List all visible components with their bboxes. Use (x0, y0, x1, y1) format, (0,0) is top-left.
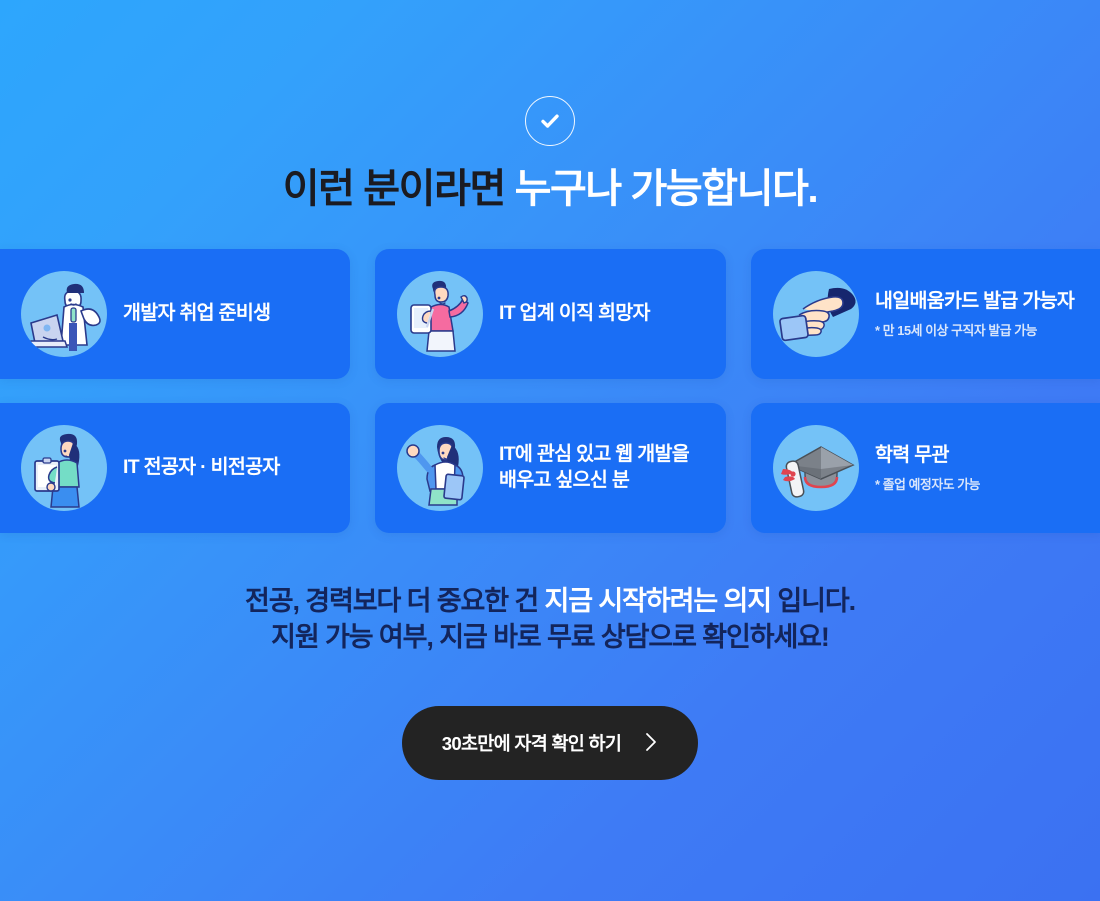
card-title: IT 업계 이직 희망자 (499, 301, 650, 327)
card-title: IT에 관심 있고 웹 개발을 배우고 싶으신 분 (499, 442, 689, 493)
card-text: IT 전공자 · 비전공자 (123, 455, 280, 481)
headline-dark-part: 이런 분이라면 (283, 167, 515, 211)
card-text: 내일배움카드 발급 가능자 * 만 15세 이상 구직자 발급 가능 (875, 289, 1074, 340)
card-title: IT 전공자 · 비전공자 (123, 455, 280, 481)
card-subtitle: * 만 15세 이상 구직자 발급 가능 (875, 320, 1074, 339)
graduation-cap-diploma-illustration (773, 425, 859, 511)
closing-copy: 전공, 경력보다 더 중요한 건 지금 시작하려는 의지 입니다. 지원 가능 … (0, 584, 1100, 655)
hand-holding-card-illustration (773, 271, 859, 357)
card-subtitle: * 졸업 예정자도 가능 (875, 474, 980, 493)
card-title: 학력 무관 (875, 443, 980, 469)
eligibility-section: 이런 분이라면 누구나 가능합니다. (0, 0, 1100, 901)
closing-line1-highlight: 지금 시작하려는 의지 (545, 586, 771, 616)
eligibility-card-major-nonmajor[interactable]: IT 전공자 · 비전공자 (0, 403, 350, 533)
closing-line-1: 전공, 경력보다 더 중요한 건 지금 시작하려는 의지 입니다. (0, 584, 1100, 620)
woman-with-clipboard-illustration (21, 425, 107, 511)
eligibility-card-no-education-requirement[interactable]: 학력 무관 * 졸업 예정자도 가능 (751, 403, 1100, 533)
chevron-right-icon (645, 732, 658, 755)
card-title: 개발자 취업 준비생 (123, 301, 270, 327)
card-text: IT 업계 이직 희망자 (499, 301, 650, 327)
check-circle-icon (525, 96, 575, 146)
check-eligibility-button[interactable]: 30초만에 자격 확인 하기 (402, 706, 698, 780)
eligibility-card-grid: 개발자 취업 준비생 (0, 249, 1100, 533)
closing-line1-part2: 입니다. (771, 586, 855, 616)
closing-line1-part1: 전공, 경력보다 더 중요한 건 (245, 586, 545, 616)
card-text: 학력 무관 * 졸업 예정자도 가능 (875, 443, 980, 494)
headline-light-part: 누구나 가능합니다. (515, 167, 818, 211)
eligibility-card-naeil-card[interactable]: 내일배움카드 발급 가능자 * 만 15세 이상 구직자 발급 가능 (751, 249, 1100, 379)
card-title: 내일배움카드 발급 가능자 (875, 289, 1074, 315)
eligibility-card-web-dev-interest[interactable]: IT에 관심 있고 웹 개발을 배우고 싶으신 분 (375, 403, 726, 533)
eligibility-card-developer-jobseeker[interactable]: 개발자 취업 준비생 (0, 249, 350, 379)
closing-line-2: 지원 가능 여부, 지금 바로 무료 상담으로 확인하세요! (0, 620, 1100, 656)
page-title: 이런 분이라면 누구나 가능합니다. (283, 166, 817, 213)
eligibility-card-it-career-changer[interactable]: IT 업계 이직 희망자 (375, 249, 726, 379)
woman-with-tablet-illustration (397, 271, 483, 357)
person-with-laptop-illustration (21, 271, 107, 357)
cta-label: 30초만에 자격 확인 하기 (442, 730, 621, 756)
woman-waving-illustration (397, 425, 483, 511)
card-text: 개발자 취업 준비생 (123, 301, 270, 327)
card-text: IT에 관심 있고 웹 개발을 배우고 싶으신 분 (499, 442, 689, 493)
